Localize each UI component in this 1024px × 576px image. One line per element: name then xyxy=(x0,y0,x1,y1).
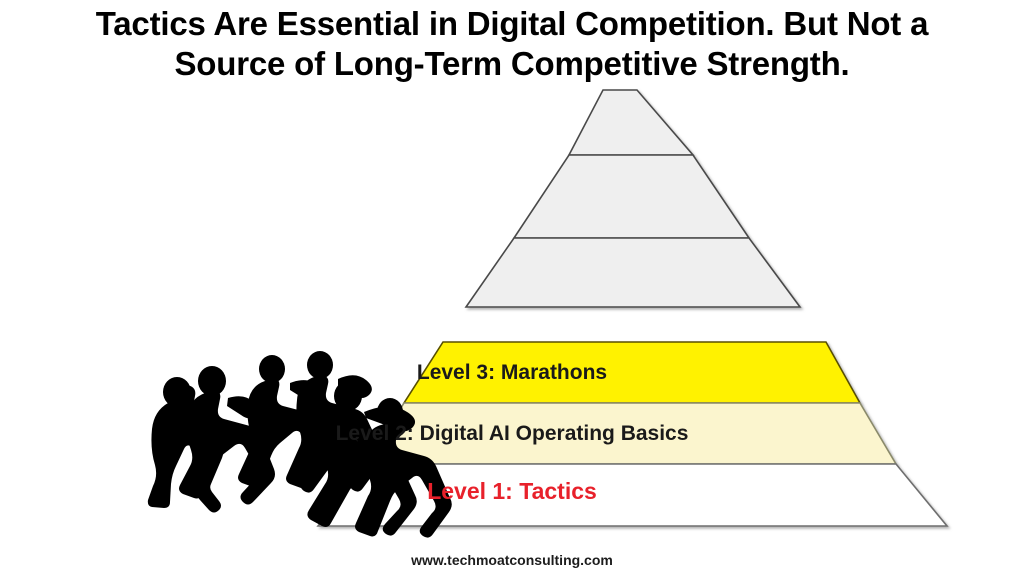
level2-band-label: Level 2: Digital AI Operating Basics xyxy=(0,422,1024,446)
gray-pyramid-group xyxy=(466,90,800,307)
gray-apex-band xyxy=(569,90,693,155)
level1-band-label: Level 1: Tactics xyxy=(0,478,1024,505)
level3-band-label: Level 3: Marathons xyxy=(0,361,1024,385)
slide-canvas: Tactics Are Essential in Digital Competi… xyxy=(0,0,1024,576)
footer-website-url: www.techmoatconsulting.com xyxy=(0,552,1024,568)
gray-lower-band xyxy=(466,238,800,307)
gray-middle-band xyxy=(514,155,749,238)
